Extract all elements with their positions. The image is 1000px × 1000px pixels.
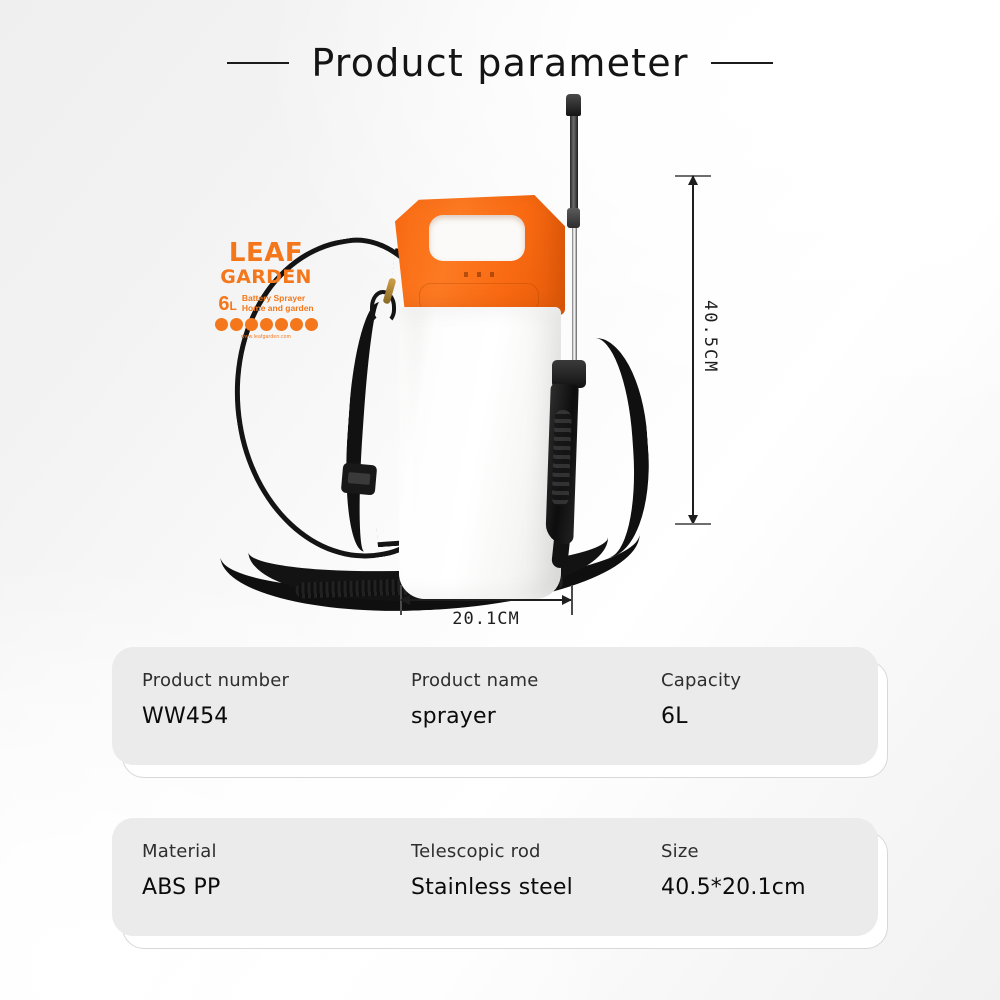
spec-row-card: Product number WW454 Product name spraye…: [112, 647, 878, 765]
spec-value: 6L: [661, 704, 878, 730]
spec-row-card: Material ABS PP Telescopic rod Stainless…: [112, 818, 878, 936]
page-title: Product parameter: [311, 44, 688, 82]
brand-name-secondary: GARDEN: [200, 266, 332, 290]
label-tagline: Battery Sprayer Home and garden: [242, 294, 314, 314]
feature-icon-4: [260, 318, 273, 331]
label-capacity-row: 6L Battery Sprayer Home and garden: [200, 294, 332, 314]
tank-cap-icon: [395, 195, 565, 315]
cap-vent-dots-icon: [464, 272, 494, 277]
spec-cell-material: Material ABS PP: [112, 818, 378, 936]
strap-hook-loop-icon: [370, 290, 396, 324]
label-capacity-number: 6: [218, 293, 229, 315]
telescopic-rod-upper-icon: [570, 112, 578, 217]
spec-key: Product number: [142, 670, 378, 692]
height-dimension-label: 40.5CM: [700, 300, 720, 373]
spec-cell-telescopic-rod: Telescopic rod Stainless steel: [381, 818, 628, 936]
spray-nozzle-icon: [566, 94, 581, 116]
height-dimension-tick-bottom: [675, 523, 711, 525]
brand-name-primary: LEAF: [200, 240, 332, 266]
spec-value: Stainless steel: [411, 875, 628, 901]
label-capacity-unit: L: [229, 299, 236, 313]
header-rule-right: [711, 62, 773, 64]
spec-value: ABS PP: [142, 875, 378, 901]
tank-body-icon: [399, 307, 561, 599]
label-tagline-line2: Home and garden: [242, 304, 314, 314]
spec-value: sprayer: [411, 704, 628, 730]
feature-icon-3: [245, 318, 258, 331]
label-feature-icons: [200, 318, 332, 331]
carry-handle-icon: [429, 215, 525, 261]
spec-cell-capacity: Capacity 6L: [631, 647, 878, 765]
spec-key: Capacity: [661, 670, 878, 692]
feature-icon-5: [275, 318, 288, 331]
header-rule-left: [227, 62, 289, 64]
spec-cell-size: Size 40.5*20.1cm: [631, 818, 878, 936]
width-dimension-tick-right: [571, 585, 573, 615]
feature-icon-2: [230, 318, 243, 331]
spec-key: Size: [661, 841, 878, 863]
feature-icon-6: [290, 318, 303, 331]
spec-row: Product number WW454 Product name spraye…: [112, 647, 878, 765]
product-photo: LEAF GARDEN 6L Battery Sprayer Home and …: [180, 90, 740, 620]
product-parameter-page: Product parameter LEAF GARDEN: [0, 0, 1000, 1000]
width-dimension-label: 20.1CM: [401, 609, 571, 629]
feature-icon-1: [215, 318, 228, 331]
spec-key: Material: [142, 841, 378, 863]
spec-cell-product-number: Product number WW454: [112, 647, 378, 765]
label-website-url: www.leafgarden.com: [200, 334, 332, 340]
spec-row: Material ABS PP Telescopic rod Stainless…: [112, 818, 878, 936]
sprayer-tank: [395, 195, 565, 595]
feature-icon-7: [305, 318, 318, 331]
spec-value: WW454: [142, 704, 378, 730]
spec-cell-product-name: Product name sprayer: [381, 647, 628, 765]
spec-value: 40.5*20.1cm: [661, 875, 878, 901]
product-brand-label: LEAF GARDEN 6L Battery Sprayer Home and …: [200, 240, 332, 340]
spec-key: Telescopic rod: [411, 841, 628, 863]
spec-key: Product name: [411, 670, 628, 692]
label-capacity: 6L: [218, 294, 236, 314]
height-dimension-line: [692, 176, 694, 524]
trigger-handle-icon: [545, 384, 579, 545]
width-dimension-line: [401, 599, 571, 601]
rod-collar-icon: [567, 208, 580, 228]
page-header: Product parameter: [0, 32, 1000, 94]
